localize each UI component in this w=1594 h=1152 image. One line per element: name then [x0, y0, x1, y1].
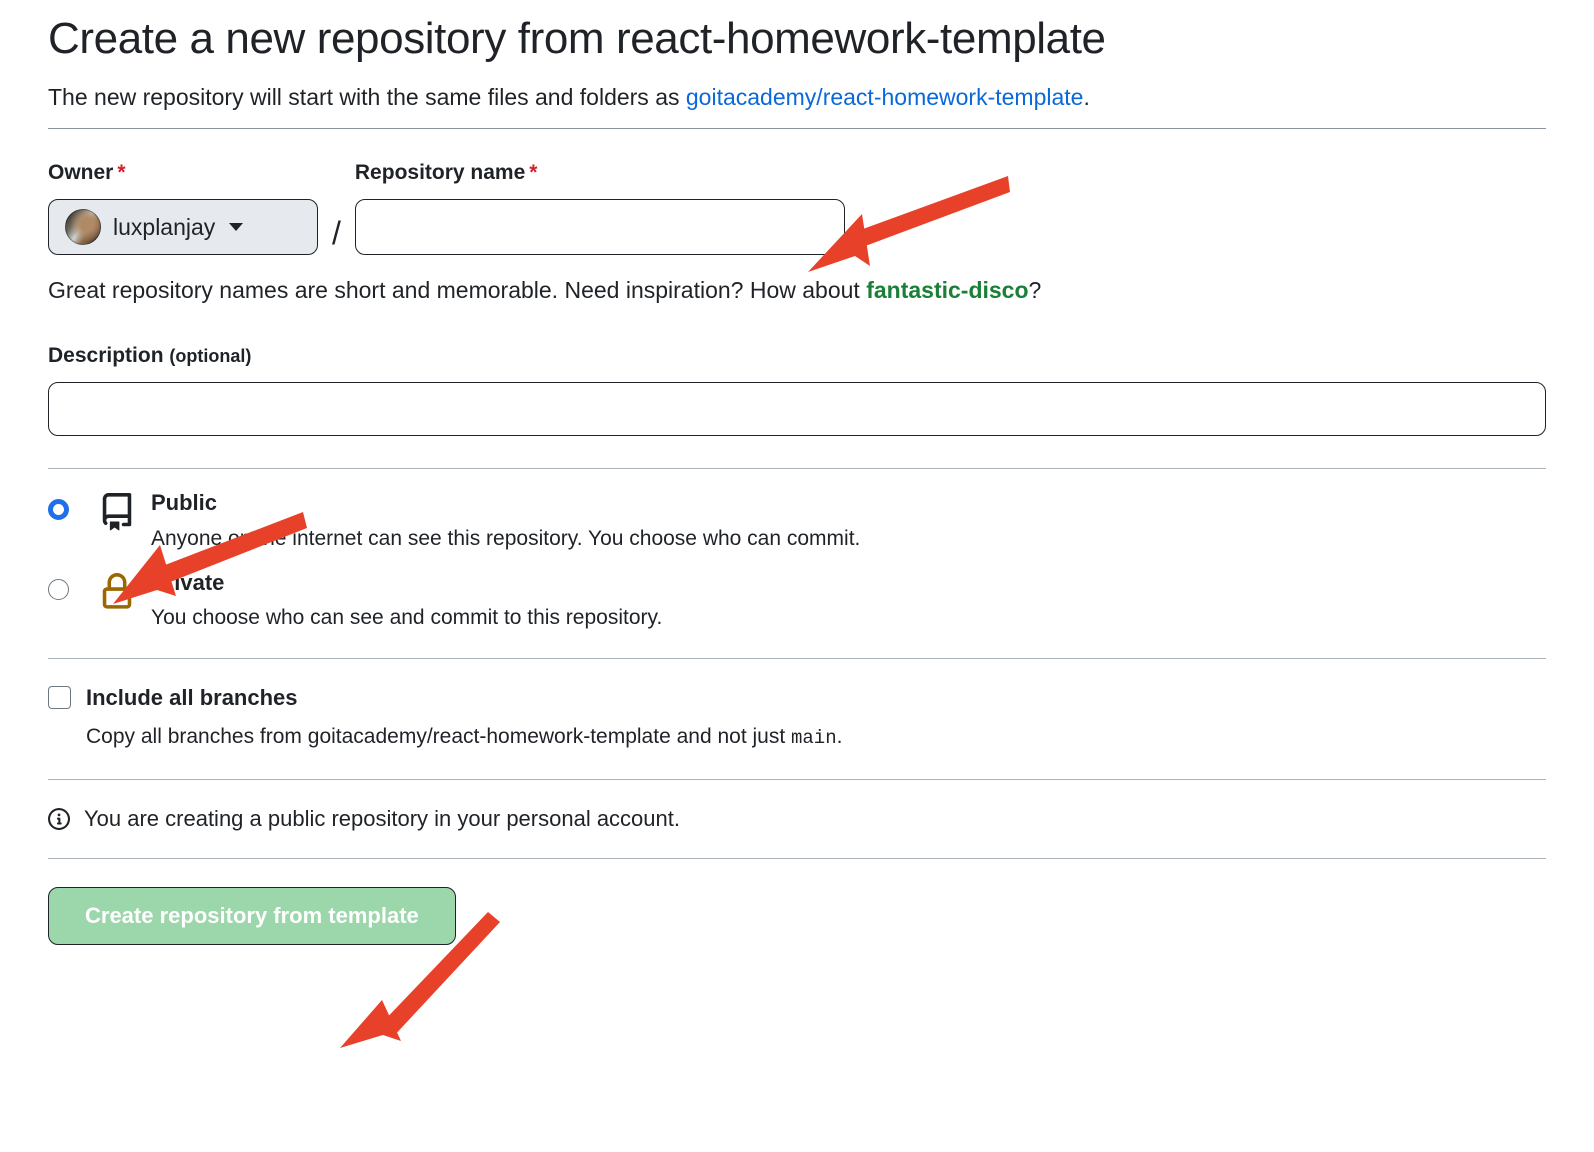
- repository-name-field: Repository name*: [355, 161, 845, 255]
- include-all-branches-label: Include all branches: [86, 685, 298, 711]
- divider-visibility: [48, 468, 1546, 469]
- include-branches-description: Copy all branches from goitacademy/react…: [86, 725, 1546, 749]
- owner-required-mark: *: [117, 161, 125, 184]
- owner-field: Owner* luxplanjay: [48, 161, 318, 255]
- owner-name-separator: /: [332, 217, 341, 249]
- repository-name-required-mark: *: [529, 161, 537, 184]
- owner-label-text: Owner: [48, 161, 113, 184]
- page-subtitle: The new repository will start with the s…: [48, 83, 1546, 113]
- create-repository-page: Create a new repository from react-homew…: [0, 0, 1594, 1152]
- subtitle-suffix: .: [1083, 84, 1089, 110]
- repository-name-input[interactable]: [355, 199, 845, 255]
- visibility-note-text: You are creating a public repository in …: [84, 806, 680, 832]
- lock-icon: [95, 573, 139, 611]
- visibility-options: Public Anyone on the internet can see th…: [48, 491, 1546, 629]
- template-source-link[interactable]: goitacademy/react-homework-template: [686, 84, 1084, 110]
- visibility-public-title: Public: [151, 490, 217, 515]
- include-branches-section: Include all branches Copy all branches f…: [48, 685, 1546, 749]
- include-branches-description-suffix: .: [837, 725, 843, 748]
- visibility-option-public[interactable]: Public Anyone on the internet can see th…: [48, 491, 1546, 550]
- description-label-text: Description: [48, 344, 164, 367]
- visibility-public-text: Public Anyone on the internet can see th…: [151, 491, 860, 550]
- hint-suffix: ?: [1029, 277, 1042, 303]
- subtitle-prefix: The new repository will start with the s…: [48, 84, 686, 110]
- visibility-option-private[interactable]: Private You choose who can see and commi…: [48, 571, 1546, 630]
- visibility-public-description: Anyone on the internet can see this repo…: [151, 527, 860, 551]
- divider-note: [48, 779, 1546, 780]
- divider-submit: [48, 858, 1546, 859]
- divider-branches: [48, 658, 1546, 659]
- description-input[interactable]: [48, 382, 1546, 436]
- owner-selected-name: luxplanjay: [113, 214, 215, 241]
- avatar: [65, 209, 101, 245]
- default-branch-name: main: [791, 727, 837, 749]
- info-icon: [48, 808, 70, 830]
- visibility-note: You are creating a public repository in …: [48, 806, 1546, 832]
- visibility-private-text: Private You choose who can see and commi…: [151, 571, 662, 630]
- create-repository-from-template-button[interactable]: Create repository from template: [48, 887, 456, 945]
- description-label: Description (optional): [48, 344, 1546, 368]
- owner-select-button[interactable]: luxplanjay: [48, 199, 318, 255]
- include-branches-row[interactable]: Include all branches: [48, 685, 1546, 711]
- repository-name-label-text: Repository name: [355, 161, 525, 184]
- visibility-private-description: You choose who can see and commit to thi…: [151, 606, 662, 630]
- repository-name-label: Repository name*: [355, 161, 845, 185]
- radio-private[interactable]: [48, 579, 69, 600]
- visibility-private-title: Private: [151, 570, 224, 595]
- chevron-down-icon: [229, 223, 243, 231]
- divider-top: [48, 128, 1546, 129]
- page-title: Create a new repository from react-homew…: [48, 0, 1546, 65]
- owner-and-name-row: Owner* luxplanjay / Repository name*: [48, 161, 1546, 255]
- repo-book-icon: [95, 493, 139, 531]
- radio-public[interactable]: [48, 499, 69, 520]
- description-optional-text: (optional): [169, 346, 251, 366]
- owner-label: Owner*: [48, 161, 318, 185]
- suggested-name[interactable]: fantastic-disco: [866, 277, 1028, 303]
- hint-prefix: Great repository names are short and mem…: [48, 277, 866, 303]
- include-branches-description-prefix: Copy all branches from goitacademy/react…: [86, 725, 791, 748]
- repository-name-hint: Great repository names are short and mem…: [48, 277, 1546, 304]
- description-field: Description (optional): [48, 344, 1546, 436]
- include-all-branches-checkbox[interactable]: [48, 686, 71, 709]
